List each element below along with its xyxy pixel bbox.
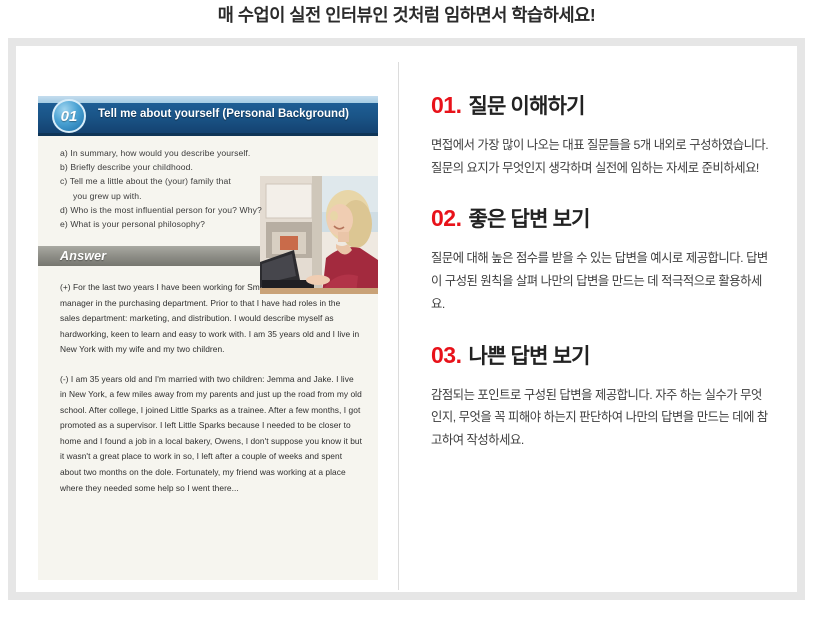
- feature-section-01-title: 질문 이해하기: [468, 96, 584, 117]
- feature-section-03: 03. 나쁜 답변 보기 감점되는 포인트로 구성된 답변을 제공합니다. 자주…: [431, 344, 771, 452]
- answer-bar-label: Answer: [60, 249, 106, 263]
- slide-banner: 01 Tell me about yourself (Personal Back…: [38, 96, 378, 136]
- content-frame: 01 Tell me about yourself (Personal Back…: [8, 38, 805, 600]
- question-item: e) What is your personal philosophy?: [60, 217, 364, 231]
- feature-section-03-title: 나쁜 답변 보기: [468, 346, 589, 367]
- feature-section-03-head: 03. 나쁜 답변 보기: [431, 344, 771, 367]
- page-heading: 매 수업이 실전 인터뷰인 것처럼 임하면서 학습하세요!: [0, 0, 813, 38]
- feature-section-01: 01. 질문 이해하기 면접에서 가장 많이 나오는 대표 질문들을 5개 내외…: [431, 94, 771, 179]
- question-item: d) Who is the most influential person fo…: [60, 203, 364, 217]
- column-divider: [398, 62, 399, 590]
- feature-section-01-description: 면접에서 가장 많이 나오는 대표 질문들을 5개 내외로 구성하였습니다. 질…: [431, 134, 771, 179]
- slide-question-area: a) In summary, how would you describe yo…: [38, 136, 378, 242]
- feature-section-02: 02. 좋은 답변 보기 질문에 대해 높은 점수를 받을 수 있는 답변을 예…: [431, 207, 771, 315]
- question-item-continued: you grew up with.: [60, 189, 364, 203]
- feature-section-03-description: 감점되는 포인트로 구성된 답변을 제공합니다. 자주 하는 실수가 무엇인지,…: [431, 384, 771, 452]
- lesson-slide-preview: 01 Tell me about yourself (Personal Back…: [38, 96, 378, 580]
- content-frame-inner: 01 Tell me about yourself (Personal Back…: [16, 46, 797, 592]
- question-item: b) Briefly describe your childhood.: [60, 160, 364, 174]
- question-item: c) Tell me a little about the (your) fam…: [60, 174, 364, 188]
- page-title: 매 수업이 실전 인터뷰인 것처럼 임하면서 학습하세요!: [218, 7, 596, 31]
- bad-answer-paragraph: (-) I am 35 years old and I'm married wi…: [60, 372, 362, 496]
- slide-banner-title: Tell me about yourself (Personal Backgro…: [98, 108, 349, 120]
- feature-sections: 01. 질문 이해하기 면접에서 가장 많이 나오는 대표 질문들을 5개 내외…: [431, 94, 771, 452]
- slide-number-badge: 01: [52, 99, 86, 133]
- feature-section-02-head: 02. 좋은 답변 보기: [431, 207, 771, 230]
- feature-section-02-description: 질문에 대해 높은 점수를 받을 수 있는 답변을 예시로 제공합니다. 답변이…: [431, 247, 771, 315]
- feature-section-01-head: 01. 질문 이해하기: [431, 94, 771, 117]
- feature-section-02-number: 02.: [431, 207, 461, 230]
- feature-section-02-title: 좋은 답변 보기: [468, 209, 589, 230]
- feature-section-03-number: 03.: [431, 344, 461, 367]
- answer-body: (+) For the last two years I have been w…: [38, 266, 378, 496]
- question-item: a) In summary, how would you describe yo…: [60, 146, 364, 160]
- question-item-continued-text: you grew up with.: [60, 189, 364, 203]
- feature-section-01-number: 01.: [431, 94, 461, 117]
